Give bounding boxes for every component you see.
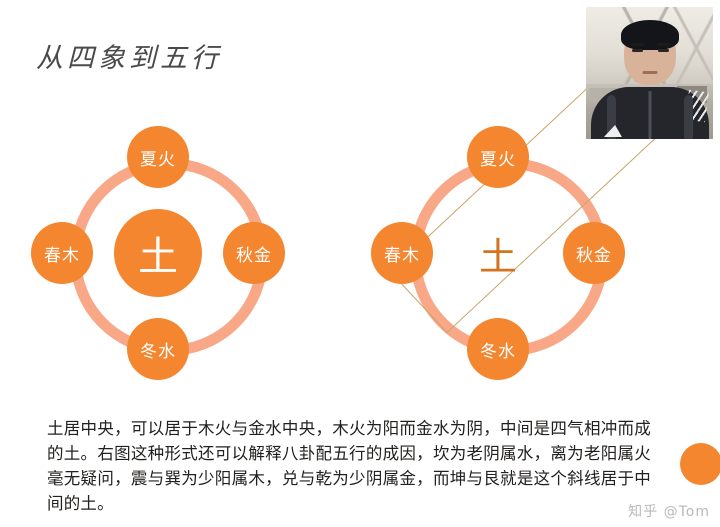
- presenter-hair: [621, 20, 679, 50]
- center-node-left: 土: [114, 209, 202, 297]
- diagram-right: 土 夏火 春木 秋金 冬水: [368, 112, 628, 402]
- diagram-left: 土 夏火 春木 秋金 冬水: [28, 112, 288, 402]
- body-paragraph: 土居中央，可以居于木火与金水中央，木火为阳而金水为阴，中间是四气相冲而成的土。右…: [47, 416, 651, 516]
- jacket-logo-icon: [603, 125, 623, 137]
- node-left-diagram-bottom: 冬水: [127, 318, 189, 380]
- jacket-stripes: [685, 90, 709, 122]
- node-right-diagram-top: 夏火: [467, 126, 529, 188]
- node-right-diagram-bottom: 冬水: [467, 318, 529, 380]
- center-node-right: 土: [454, 209, 542, 297]
- jacket-zipper: [648, 91, 651, 139]
- watermark: 知乎 @Tom: [628, 501, 710, 521]
- presenter-video-overlay[interactable]: [586, 7, 713, 139]
- presenter-jacket: [591, 87, 709, 139]
- presenter-eyebrow: [631, 43, 644, 46]
- node-left-diagram-right: 秋金: [223, 222, 285, 284]
- node-right-diagram-left: 春木: [371, 222, 433, 284]
- decorative-circle: [680, 443, 720, 485]
- presenter-eye: [658, 49, 669, 52]
- presenter-mouth: [642, 71, 657, 74]
- presenter-eyebrow: [657, 43, 670, 46]
- node-left-diagram-top: 夏火: [127, 126, 189, 188]
- node-left-diagram-left: 春木: [31, 222, 93, 284]
- page-title: 从四象到五行: [36, 36, 222, 75]
- presenter-eye: [632, 49, 643, 52]
- node-right-diagram-right: 秋金: [563, 222, 625, 284]
